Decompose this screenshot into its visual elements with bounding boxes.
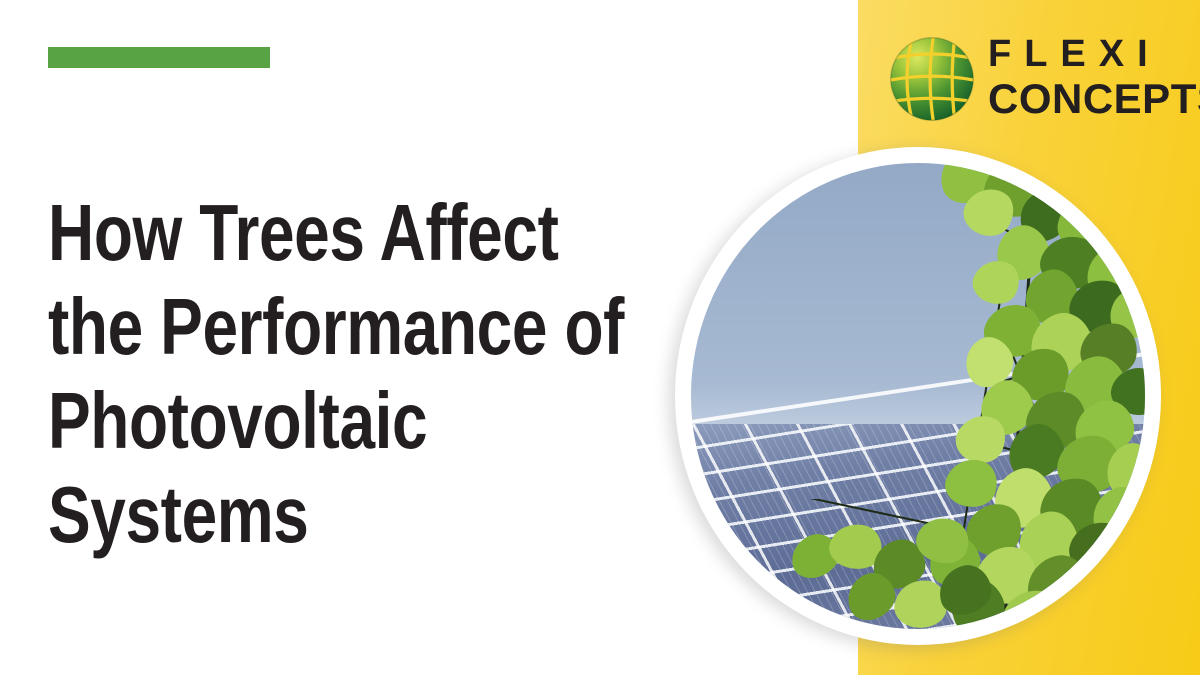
- green-accent-bar: [48, 47, 270, 68]
- title-line-2: the Performance of: [48, 280, 576, 374]
- hero-photo-circle: [675, 147, 1161, 645]
- green-globe-mesh-icon: [884, 31, 980, 127]
- title-line-4: Systems: [48, 468, 576, 562]
- title-line-1: How Trees Affect: [48, 186, 576, 280]
- brand-name-secondary: CONCEPTS: [988, 76, 1184, 122]
- hero-photo-image: [691, 163, 1145, 629]
- tree-foliage-lower: [782, 499, 1000, 629]
- page-title: How Trees Affect the Performance of Phot…: [48, 186, 576, 562]
- brand-name-primary: FLEXI: [988, 32, 1184, 76]
- blog-banner: FLEXI CONCEPTS: [0, 0, 1200, 675]
- title-line-3: Photovoltaic: [48, 374, 576, 468]
- brand-logo[interactable]: FLEXI CONCEPTS: [884, 28, 1184, 132]
- brand-wordmark: FLEXI CONCEPTS: [988, 32, 1184, 122]
